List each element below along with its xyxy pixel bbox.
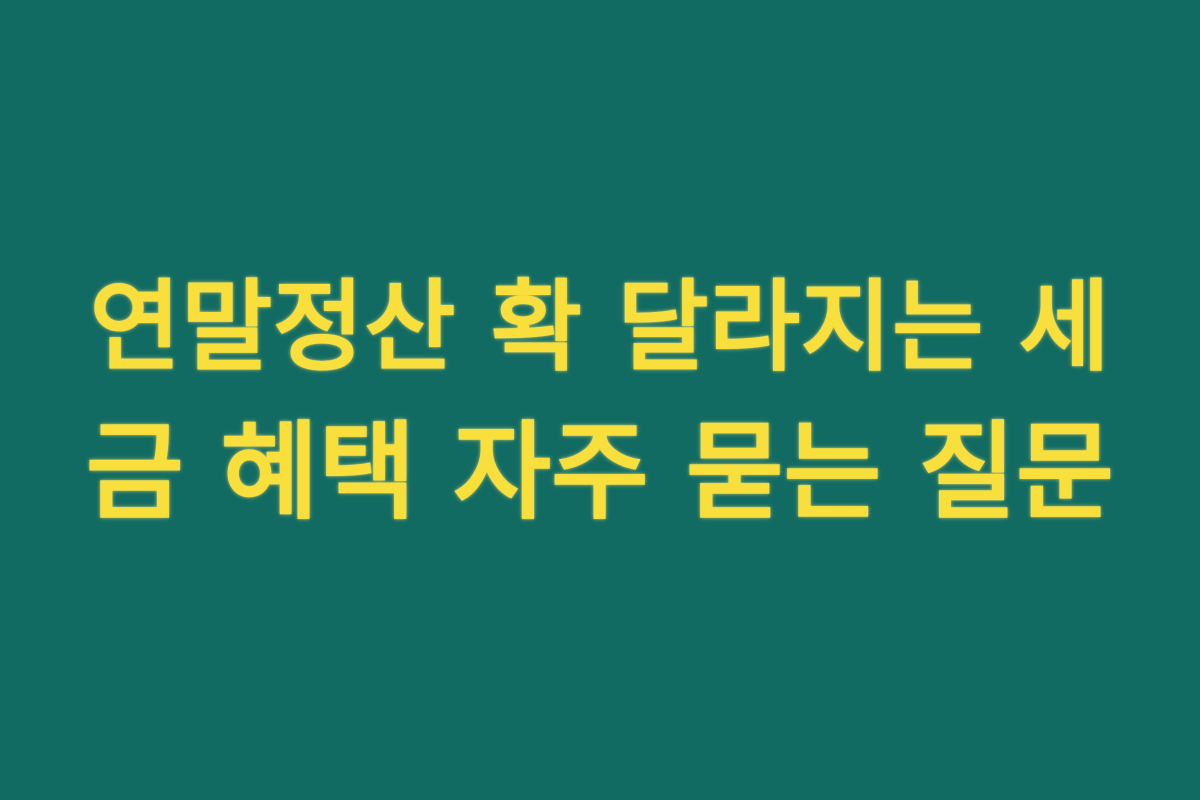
- banner-canvas: 연말정산 확 달라지는 세 금 혜택 자주 묻는 질문: [0, 0, 1200, 800]
- headline-block: 연말정산 확 달라지는 세 금 혜택 자주 묻는 질문: [55, 255, 1145, 545]
- headline-line-1: 연말정산 확 달라지는 세: [90, 255, 1111, 400]
- headline-line-2: 금 혜택 자주 묻는 질문: [86, 400, 1114, 545]
